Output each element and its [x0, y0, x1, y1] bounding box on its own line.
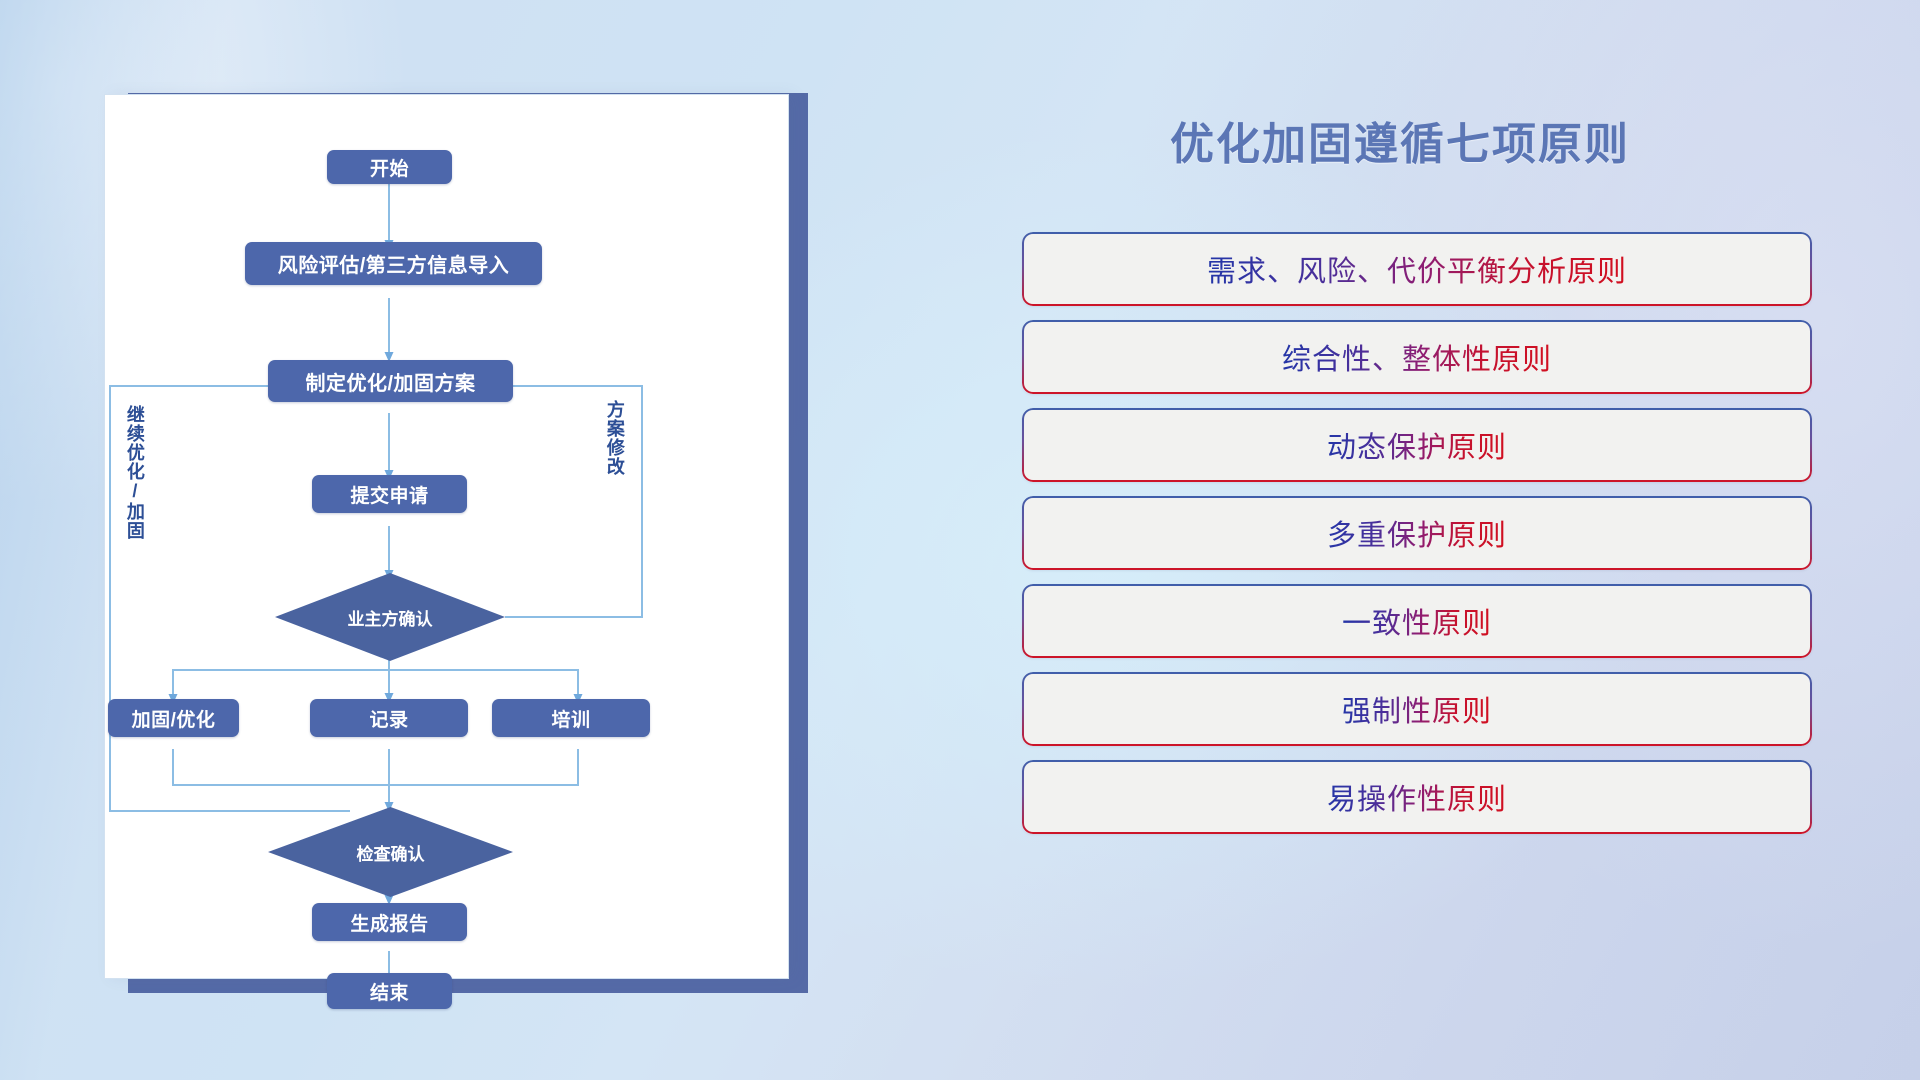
flow-node-label: 加固/优化 — [132, 705, 216, 732]
flow-node-submit-application[interactable]: 提交申请 — [312, 475, 467, 513]
flow-node-label: 记录 — [369, 705, 408, 732]
flow-node-start[interactable]: 开始 — [327, 150, 452, 184]
flow-node-label: 制定优化/加固方案 — [305, 367, 475, 396]
principle-label: 动态保护原则 — [1327, 424, 1507, 466]
flow-node-training[interactable]: 培训 — [492, 699, 650, 737]
flow-edge-label-plan-revision: 方案修改 — [605, 400, 624, 510]
principles-list: 需求、风险、代价平衡分析原则 综合性、整体性原则 动态保护原则 多重保护原则 一… — [1022, 232, 1812, 848]
flow-node-label: 结束 — [370, 978, 409, 1005]
flow-node-label: 业主方确认 — [348, 605, 433, 630]
principle-item-5[interactable]: 一致性原则 — [1022, 584, 1812, 658]
principle-item-1[interactable]: 需求、风险、代价平衡分析原则 — [1022, 232, 1812, 306]
flow-node-label: 风险评估/第三方信息导入 — [278, 249, 510, 278]
principle-item-2[interactable]: 综合性、整体性原则 — [1022, 320, 1812, 394]
principles-title: 优化加固遵循七项原则 — [1050, 108, 1750, 172]
principle-item-7[interactable]: 易操作性原则 — [1022, 760, 1812, 834]
flow-edge-label-continue-optimize: 继续优化/加固 — [125, 405, 144, 555]
flow-node-label: 开始 — [370, 154, 409, 181]
principle-label: 强制性原则 — [1342, 688, 1492, 730]
principle-item-4[interactable]: 多重保护原则 — [1022, 496, 1812, 570]
flow-node-end[interactable]: 结束 — [327, 973, 452, 1009]
principle-label: 需求、风险、代价平衡分析原则 — [1207, 248, 1627, 290]
flowchart-card: 开始 风险评估/第三方信息导入 制定优化/加固方案 提交申请 业主方确认 加固/… — [105, 95, 788, 978]
principle-label: 多重保护原则 — [1327, 512, 1507, 554]
principle-item-6[interactable]: 强制性原则 — [1022, 672, 1812, 746]
flow-node-label: 生成报告 — [350, 909, 428, 936]
flow-node-generate-report[interactable]: 生成报告 — [312, 903, 467, 941]
flow-node-plan[interactable]: 制定优化/加固方案 — [268, 360, 513, 402]
flow-node-reinforce[interactable]: 加固/优化 — [108, 699, 239, 737]
flow-node-record[interactable]: 记录 — [310, 699, 468, 737]
principle-label: 易操作性原则 — [1327, 776, 1507, 818]
flow-node-label: 提交申请 — [350, 481, 428, 508]
flow-node-label: 培训 — [551, 705, 590, 732]
principle-label: 一致性原则 — [1342, 600, 1492, 642]
principle-item-3[interactable]: 动态保护原则 — [1022, 408, 1812, 482]
flow-node-risk-assessment[interactable]: 风险评估/第三方信息导入 — [245, 242, 542, 285]
flow-node-label: 检查确认 — [357, 840, 425, 865]
principle-label: 综合性、整体性原则 — [1282, 336, 1552, 378]
